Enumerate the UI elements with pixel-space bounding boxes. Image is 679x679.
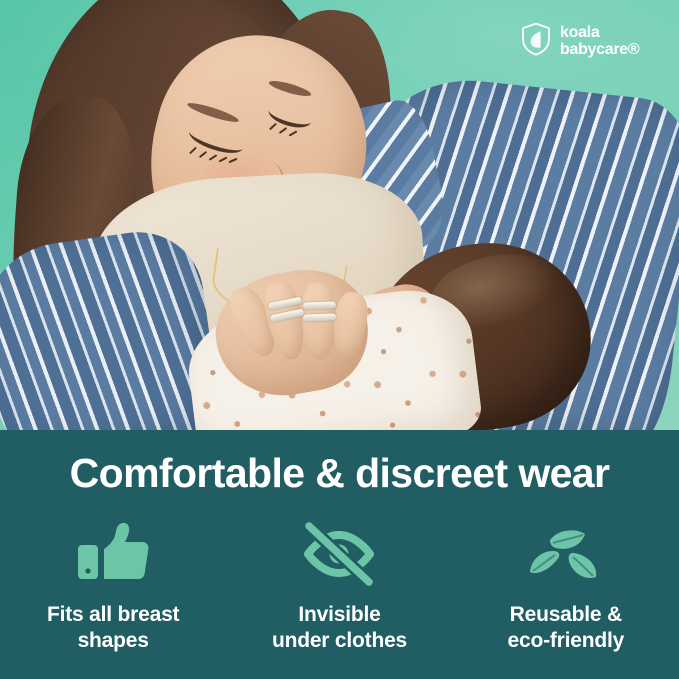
feature-label: Invisible under clothes	[272, 602, 407, 655]
feature-list: Fits all breast shapes Invisible under c…	[0, 518, 679, 655]
product-marketing-image: koala babycare® Comfortable & discreet w…	[0, 0, 679, 679]
feature-item-fits-all-breast-shapes: Fits all breast shapes	[0, 518, 226, 655]
eye-slash-invisible-icon	[299, 518, 379, 590]
feature-item-reusable-eco-friendly: Reusable & eco-friendly	[453, 518, 679, 655]
hero-photo: koala babycare®	[0, 0, 679, 432]
brand-name: koala babycare®	[560, 25, 639, 58]
koala-shield-logo-icon	[521, 22, 551, 61]
ring	[303, 301, 336, 309]
feature-item-invisible-under-clothes: Invisible under clothes	[226, 518, 452, 655]
feature-label: Fits all breast shapes	[47, 602, 179, 655]
headline: Comfortable & discreet wear	[0, 450, 679, 497]
brand-logo: koala babycare®	[521, 22, 639, 61]
feature-banner: Comfortable & discreet wear Fits all bre…	[0, 430, 679, 679]
recycle-leaves-icon	[528, 518, 604, 590]
ring	[303, 313, 336, 321]
feature-label: Reusable & eco-friendly	[508, 602, 625, 655]
thumbs-up-icon	[76, 518, 150, 590]
